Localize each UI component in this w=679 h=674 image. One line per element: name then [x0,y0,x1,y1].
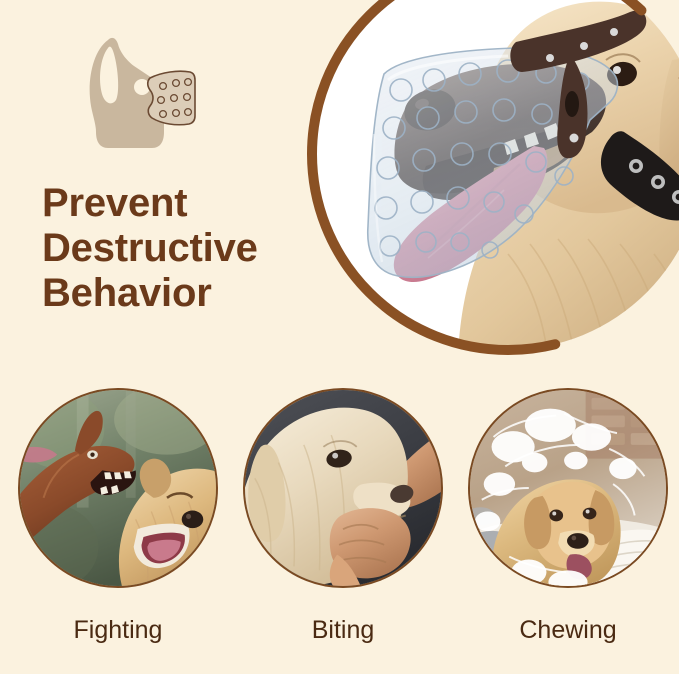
logo-muzzle [148,71,195,125]
headline-line-3: Behavior [42,271,342,316]
behavior-card-biting: Biting [239,384,447,643]
dog-head-with-muzzle-logo [74,32,200,154]
headline-line-2: Destructive [42,226,342,271]
headline-line-1: Prevent [42,181,342,226]
product-feature-graphic: Prevent Destructive Behavior [0,0,679,674]
behavior-card-fighting: Fighting [14,384,222,643]
dog-biting-hand-photo [243,388,443,588]
dog-chewing-pillow-photo [468,388,668,588]
card-label-fighting: Fighting [14,618,222,643]
behavior-cards: Fighting [0,384,679,664]
two-dogs-fighting-photo [18,388,218,588]
headline: Prevent Destructive Behavior [42,181,342,315]
behavior-card-chewing: Chewing [464,384,672,643]
card-label-chewing: Chewing [464,618,672,643]
card-label-biting: Biting [239,618,447,643]
